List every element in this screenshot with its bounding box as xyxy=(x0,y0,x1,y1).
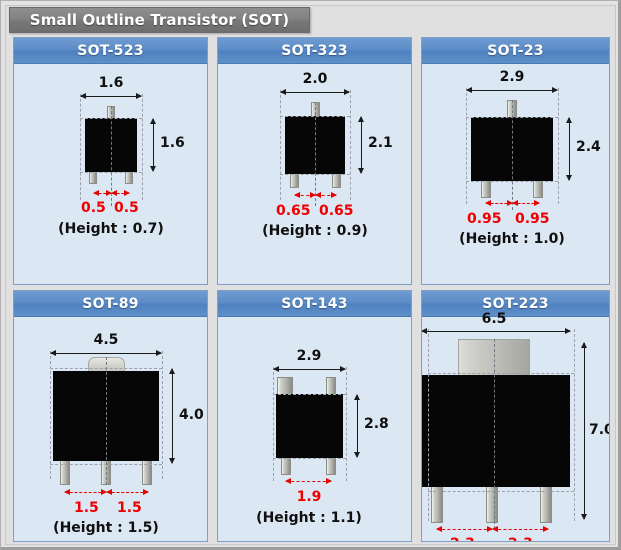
panel-header-sot-23: SOT-23 xyxy=(422,38,609,64)
height-dimension-line xyxy=(569,118,570,180)
panel-body-sot-89: 4.5 4.0 1.5 1.5 (Height : 1.5) xyxy=(14,317,207,541)
pitch-line-left xyxy=(295,195,315,196)
height-label: 4.0 xyxy=(179,407,204,423)
package-body xyxy=(276,394,343,458)
pitch-line-left xyxy=(65,492,106,493)
height-label: 7.0 xyxy=(589,422,610,438)
width-label: 4.5 xyxy=(94,332,119,348)
pitch-label-right: 1.5 xyxy=(117,500,142,516)
panel-sot-523[interactable]: SOT-523 1.6 xyxy=(13,37,208,285)
panel-title-sot-143: SOT-143 xyxy=(281,296,348,312)
pitch-label-left: 2.3 xyxy=(450,536,475,542)
height-label: 2.4 xyxy=(576,139,601,155)
lead-bottom-3 xyxy=(540,481,552,523)
package-body xyxy=(422,375,570,487)
pitch-line-left xyxy=(486,203,512,204)
panel-title-sot-523: SOT-523 xyxy=(77,43,144,59)
panel-header-sot-323: SOT-323 xyxy=(218,38,411,64)
width-label: 6.5 xyxy=(482,311,507,327)
figure-sot-143: 2.9 2.8 1.9 (Height : 1.1) xyxy=(218,317,411,541)
diagram-title-bar: Small Outline Transistor (SOT) xyxy=(9,7,310,33)
height-note: (Height : 1.0) xyxy=(459,231,565,247)
figure-sot-323: 2.0 2.1 0.65 0.65 (Height : 0.9) xyxy=(218,64,411,284)
height-note: (Height : 0.7) xyxy=(58,221,164,237)
figure-sot-523: 1.6 1.6 0.5 0.5 (Height : 0.7) xyxy=(14,64,207,284)
height-label: 2.1 xyxy=(368,135,393,151)
panel-body-sot-143: 2.9 2.8 1.9 (Height : 1.1) xyxy=(218,317,411,541)
panel-body-sot-23: 2.9 2.4 0.95 0.95 (Height : 1.0) xyxy=(422,64,609,284)
panel-sot-89[interactable]: SOT-89 4.5 xyxy=(13,290,208,542)
figure-sot-223: 6.5 7.0 2.3 2.3 (Height : 1.8) xyxy=(422,317,609,541)
width-label: 2.9 xyxy=(297,348,322,364)
pitch-label-left: 0.95 xyxy=(467,211,502,227)
width-dimension-line xyxy=(274,369,345,370)
panel-body-sot-523: 1.6 1.6 0.5 0.5 (Height : 0.7) xyxy=(14,64,207,284)
pitch-line-right xyxy=(316,195,336,196)
pitch-label-right: 0.95 xyxy=(515,211,550,227)
panel-header-sot-89: SOT-89 xyxy=(14,291,207,317)
pitch-label-left: 1.5 xyxy=(74,500,99,516)
pitch-line-right xyxy=(112,193,129,194)
width-dimension-line xyxy=(422,331,570,332)
pitch-label-left: 0.5 xyxy=(81,200,106,216)
height-dimension-line xyxy=(361,117,362,173)
panel-title-sot-89: SOT-89 xyxy=(82,296,139,312)
width-label: 1.6 xyxy=(99,75,124,91)
height-dimension-line xyxy=(153,119,154,171)
pitch-line-right xyxy=(513,203,539,204)
pitch-label-left: 0.65 xyxy=(276,203,311,219)
pitch-label: 1.9 xyxy=(297,489,322,505)
panel-sot-323[interactable]: SOT-323 2.0 2.1 xyxy=(217,37,412,285)
pitch-line-left xyxy=(437,529,492,530)
height-dimension-line xyxy=(584,343,585,519)
panel-body-sot-223: 6.5 7.0 2.3 2.3 (Height : 1.8) xyxy=(422,317,609,541)
panel-sot-223[interactable]: SOT-223 6.5 xyxy=(421,290,610,542)
figure-sot-89: 4.5 4.0 1.5 1.5 (Height : 1.5) xyxy=(14,317,207,541)
package-grid: SOT-523 1.6 xyxy=(13,37,610,542)
outer-frame: Small Outline Transistor (SOT) SOT-523 xyxy=(0,0,621,550)
pitch-line-right xyxy=(107,492,148,493)
width-dimension-line xyxy=(467,90,557,91)
pitch-label-right: 0.5 xyxy=(114,200,139,216)
width-dimension-line xyxy=(281,92,349,93)
pitch-line xyxy=(286,481,331,482)
panel-title-sot-23: SOT-23 xyxy=(487,43,544,59)
width-label: 2.0 xyxy=(303,71,328,87)
pitch-line-left xyxy=(94,193,111,194)
height-dimension-line xyxy=(357,395,358,457)
height-dimension-line xyxy=(172,369,173,463)
panel-body-sot-323: 2.0 2.1 0.65 0.65 (Height : 0.9) xyxy=(218,64,411,284)
panel-header-sot-523: SOT-523 xyxy=(14,38,207,64)
panel-sot-23[interactable]: SOT-23 2.9 2.4 xyxy=(421,37,610,285)
panel-header-sot-143: SOT-143 xyxy=(218,291,411,317)
height-note: (Height : 1.1) xyxy=(256,510,362,526)
width-dimension-line xyxy=(81,96,141,97)
pitch-label-right: 2.3 xyxy=(508,536,533,542)
pitch-line-right xyxy=(493,529,548,530)
figure-sot-23: 2.9 2.4 0.95 0.95 (Height : 1.0) xyxy=(422,64,609,284)
height-label: 2.8 xyxy=(364,416,389,432)
lead-bottom-2 xyxy=(486,481,498,523)
panel-sot-143[interactable]: SOT-143 2.9 2.8 xyxy=(217,290,412,542)
panel-title-sot-223: SOT-223 xyxy=(482,296,549,312)
lead-bottom-1 xyxy=(431,481,443,523)
height-label: 1.6 xyxy=(160,135,185,151)
width-label: 2.9 xyxy=(500,69,525,85)
panel-header-sot-223: SOT-223 xyxy=(422,291,609,317)
panel-title-sot-323: SOT-323 xyxy=(281,43,348,59)
width-dimension-line xyxy=(51,353,161,354)
pitch-label-right: 0.65 xyxy=(319,203,354,219)
height-note: (Height : 1.5) xyxy=(53,520,159,536)
diagram-title: Small Outline Transistor (SOT) xyxy=(30,11,289,29)
height-note: (Height : 0.9) xyxy=(262,223,368,239)
